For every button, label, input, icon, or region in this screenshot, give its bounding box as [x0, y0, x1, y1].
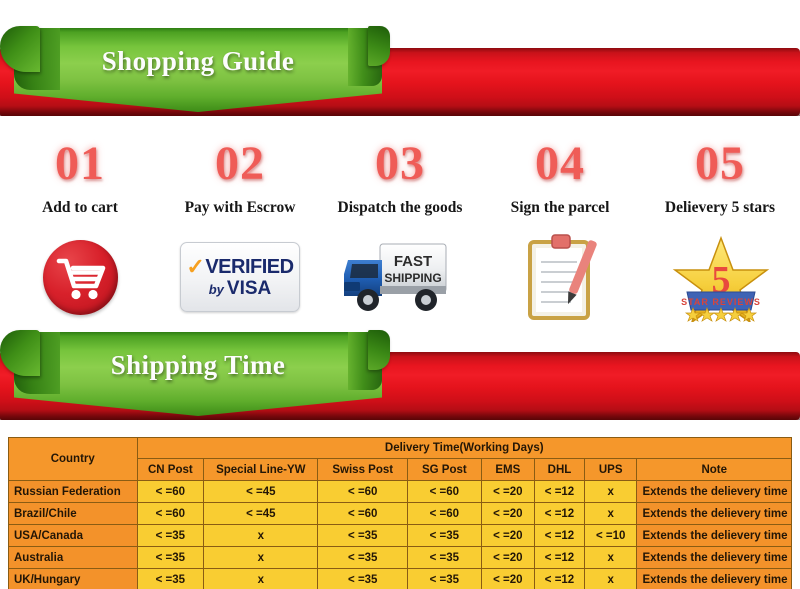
table-row: Russian Federation < =60 < =45 < =60 < =… [9, 481, 792, 503]
cell-swiss-post: < =60 [318, 503, 408, 525]
column-header-cn-post: CN Post [137, 459, 204, 481]
table-group-header-row: Country Delivery Time(Working Days) [9, 438, 792, 459]
step-number: 04 [535, 140, 585, 188]
column-header-special-line: Special Line-YW [204, 459, 318, 481]
cell-note: Extends the delievery time [637, 569, 792, 589]
cell-dhl: < =12 [535, 525, 585, 547]
cell-cn-post: < =35 [137, 547, 204, 569]
step-icon-slot: FAST SHIPPING [340, 231, 460, 323]
cell-ems: < =20 [481, 503, 534, 525]
step-number: 02 [215, 140, 265, 188]
table-head: Country Delivery Time(Working Days) CN P… [9, 438, 792, 481]
cell-special-line: x [204, 547, 318, 569]
table-row: Australia < =35 x < =35 < =35 < =20 < =1… [9, 547, 792, 569]
step-02: 02 Pay with Escrow ✓ VERIFIED by VISA [160, 140, 320, 323]
table-row: USA/Canada < =35 x < =35 < =35 < =20 < =… [9, 525, 792, 547]
column-header-dhl: DHL [535, 459, 585, 481]
cell-cn-post: < =35 [137, 525, 204, 547]
fast-shipping-truck-icon: FAST SHIPPING [340, 238, 460, 316]
visa-wordmark: VISA [227, 279, 271, 298]
table-row: UK/Hungary < =35 x < =35 < =35 < =20 < =… [9, 569, 792, 589]
cell-note: Extends the delievery time [637, 525, 792, 547]
truck-shipping-text: SHIPPING [384, 271, 441, 285]
step-icon-slot [522, 231, 598, 323]
step-label: Add to cart [42, 199, 118, 217]
cell-ups: x [584, 503, 637, 525]
cell-note: Extends the delievery time [637, 481, 792, 503]
visa-by-text: by [209, 283, 224, 296]
cell-note: Extends the delievery time [637, 547, 792, 569]
cell-cn-post: < =35 [137, 569, 204, 589]
cell-swiss-post: < =60 [318, 481, 408, 503]
cell-note: Extends the delievery time [637, 503, 792, 525]
cell-country: USA/Canada [9, 525, 138, 547]
visa-check-icon: ✓ [186, 256, 204, 278]
step-04: 04 Sign the parcel [480, 140, 640, 323]
step-03: 03 Dispatch the goods [320, 140, 480, 323]
cell-swiss-post: < =35 [318, 525, 408, 547]
cell-ems: < =20 [481, 569, 534, 589]
table-row: Brazil/Chile < =60 < =45 < =60 < =60 < =… [9, 503, 792, 525]
step-label: Pay with Escrow [185, 199, 296, 217]
column-group-header-delivery-time: Delivery Time(Working Days) [137, 438, 792, 459]
cell-swiss-post: < =35 [318, 547, 408, 569]
step-icon-slot: ✓ VERIFIED by VISA [180, 231, 300, 323]
shopping-guide-title: Shopping Guide [14, 28, 382, 94]
clipboard-pen-icon [522, 232, 598, 322]
cell-sg-post: < =35 [408, 525, 482, 547]
cell-dhl: < =12 [535, 481, 585, 503]
cell-dhl: < =12 [535, 547, 585, 569]
cell-dhl: < =12 [535, 569, 585, 589]
verified-by-visa-badge: ✓ VERIFIED by VISA [180, 242, 300, 312]
column-header-note: Note [637, 459, 792, 481]
column-header-sg-post: SG Post [408, 459, 482, 481]
cell-ems: < =20 [481, 481, 534, 503]
step-label: Delievery 5 stars [665, 199, 775, 217]
cell-ems: < =20 [481, 525, 534, 547]
column-header-ups: UPS [584, 459, 637, 481]
cell-country: Russian Federation [9, 481, 138, 503]
cell-sg-post: < =60 [408, 481, 482, 503]
table-body: Russian Federation < =60 < =45 < =60 < =… [9, 481, 792, 589]
cell-sg-post: < =35 [408, 547, 482, 569]
cell-country: Australia [9, 547, 138, 569]
truck-fast-text: FAST [394, 253, 432, 270]
cell-swiss-post: < =35 [318, 569, 408, 589]
step-label: Sign the parcel [511, 199, 610, 217]
step-number: 01 [55, 140, 105, 188]
cell-cn-post: < =60 [137, 503, 204, 525]
star-caption-text: STAR REVIEWS [681, 297, 761, 307]
shopping-cart-icon [43, 240, 118, 315]
five-star-reviews-icon: 5 STAR REVIEWS [671, 234, 769, 320]
cell-cn-post: < =60 [137, 481, 204, 503]
cell-special-line: < =45 [204, 503, 318, 525]
step-number: 05 [695, 140, 745, 188]
cell-special-line: x [204, 525, 318, 547]
step-01: 01 Add to cart [0, 140, 160, 323]
cell-ups: x [584, 569, 637, 589]
cell-sg-post: < =35 [408, 569, 482, 589]
cell-ups: x [584, 547, 637, 569]
cell-special-line: < =45 [204, 481, 318, 503]
steps-row: 01 Add to cart 02 Pa [0, 140, 800, 323]
column-header-swiss-post: Swiss Post [318, 459, 408, 481]
cell-ems: < =20 [481, 547, 534, 569]
step-label: Dispatch the goods [338, 199, 463, 217]
shopping-guide-infographic: Shopping Guide 01 Add to cart [0, 0, 800, 589]
visa-verified-text: VERIFIED [205, 257, 293, 277]
cell-sg-post: < =60 [408, 503, 482, 525]
cell-country: UK/Hungary [9, 569, 138, 589]
cell-special-line: x [204, 569, 318, 589]
shopping-guide-banner: Shopping Guide [0, 22, 800, 120]
column-header-ems: EMS [481, 459, 534, 481]
shipping-time-title: Shipping Time [14, 332, 382, 398]
cell-ups: < =10 [584, 525, 637, 547]
step-icon-slot [43, 231, 118, 323]
shipping-time-banner: Shipping Time [0, 326, 800, 424]
column-header-country: Country [9, 438, 138, 481]
step-icon-slot: 5 STAR REVIEWS [671, 231, 769, 323]
cell-dhl: < =12 [535, 503, 585, 525]
cell-ups: x [584, 481, 637, 503]
step-05: 05 Delievery 5 stars 5 STAR [640, 140, 800, 323]
cell-country: Brazil/Chile [9, 503, 138, 525]
delivery-time-table: Country Delivery Time(Working Days) CN P… [8, 437, 792, 589]
step-number: 03 [375, 140, 425, 188]
